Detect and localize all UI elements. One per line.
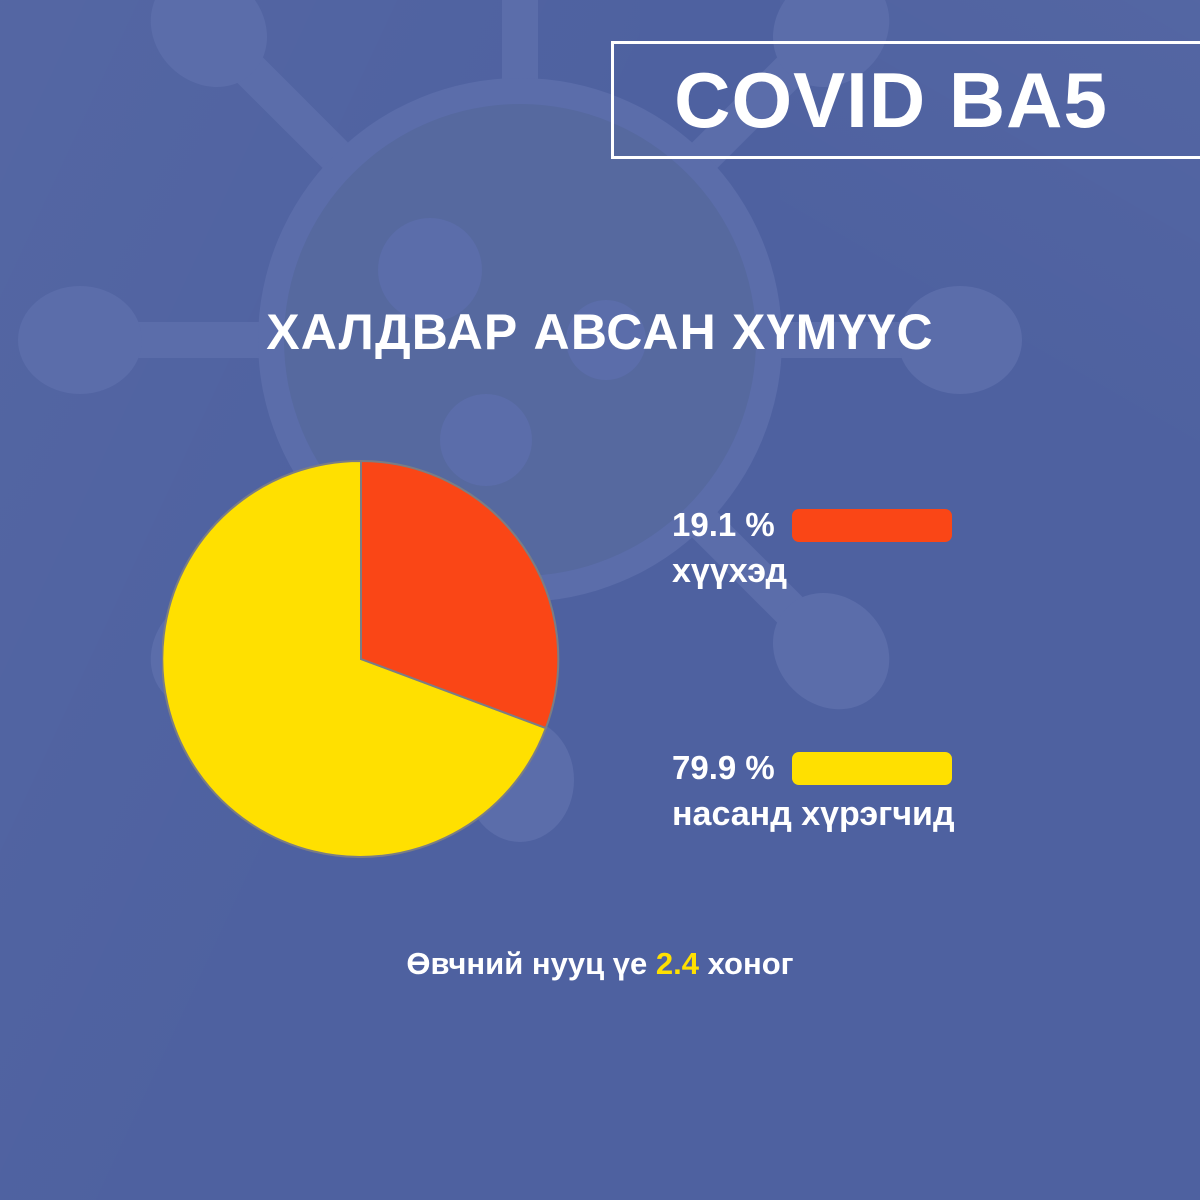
legend-label-adults: насанд хүрэгчид: [672, 795, 1092, 834]
incubation-note-suffix: хоног: [708, 946, 794, 981]
legend-swatch-adults: [792, 752, 952, 785]
infographic-poster: COVID BA5 ХАЛДВАР АВСАН ХҮМҮҮС 19.1 % хү…: [0, 0, 1200, 1200]
legend-item-adults: 79.9 % насанд хүрэгчид: [672, 748, 1092, 834]
pie-chart: [162, 460, 560, 858]
chart-legend: 19.1 % хүүхэд 79.9 % насанд хүрэгчид: [672, 505, 1092, 834]
legend-percent-children: 19.1 %: [672, 506, 792, 544]
legend-label-children: хүүхэд: [672, 552, 1092, 591]
legend-percent-adults: 79.9 %: [672, 749, 792, 787]
incubation-period-value: 2.4: [656, 946, 699, 981]
legend-item-children: 19.1 % хүүхэд: [672, 505, 1092, 591]
incubation-period-note: Өвчний нууц үе 2.4 хоног: [0, 946, 1200, 982]
section-heading: ХАЛДВАР АВСАН ХҮМҮҮС: [0, 303, 1200, 361]
page-title: COVID BA5: [611, 41, 1171, 159]
incubation-note-prefix: Өвчний нууц үе: [406, 946, 647, 981]
legend-swatch-children: [792, 509, 952, 542]
